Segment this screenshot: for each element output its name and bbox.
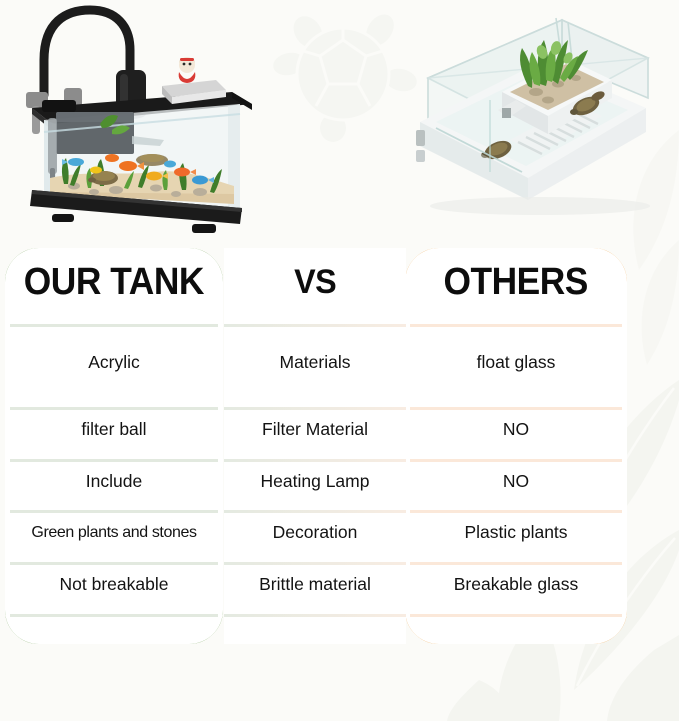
others-header: OTHERS [412,243,620,321]
our-tank-value-heating-lamp: Include [10,456,218,508]
vs-header: VS [228,243,402,321]
others-column: OTHERS float glass NO NO Plastic plants … [412,243,620,653]
our-tank-product-image [4,0,304,240]
others-tank-product-image [390,0,670,225]
vs-label: VS [294,263,336,302]
others-value-decoration: Plastic plants [412,507,620,559]
feature-label-heating-lamp: Heating Lamp [228,456,402,508]
product-images-row [0,0,679,248]
others-value-brittle-material: Breakable glass [412,559,620,611]
our-tank-value-decoration: Green plants and stones [10,507,218,559]
others-value-materials: float glass [412,321,620,404]
comparison-table: OUR TANK Acrylic filter ball Include Gre… [0,243,679,653]
our-tank-header-label: OUR TANK [24,261,204,304]
our-tank-header: OUR TANK [10,243,218,321]
feature-label-brittle-material: Brittle material [228,559,402,611]
others-value-heating-lamp: NO [412,456,620,508]
others-header-label: OTHERS [444,261,588,304]
feature-label-filter-material: Filter Material [228,404,402,456]
our-tank-value-brittle-material: Not breakable [10,559,218,611]
our-tank-value-filter-material: filter ball [10,404,218,456]
others-value-filter-material: NO [412,404,620,456]
feature-label-materials: Materials [228,321,402,404]
feature-column: VS Materials Filter Material Heating Lam… [228,243,402,653]
our-tank-column: OUR TANK Acrylic filter ball Include Gre… [10,243,218,653]
our-tank-value-materials: Acrylic [10,321,218,404]
feature-label-decoration: Decoration [228,507,402,559]
